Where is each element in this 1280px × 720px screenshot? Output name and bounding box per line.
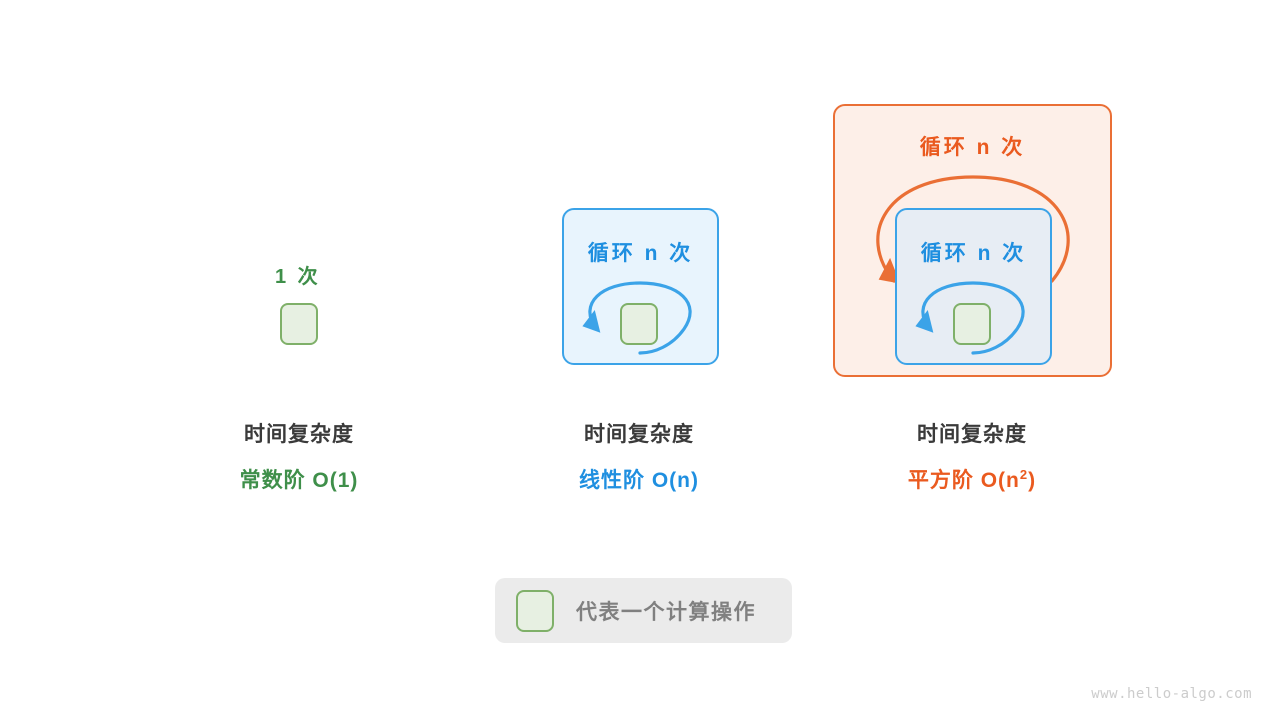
quadratic-diagram: 循环 n 次 循环 n 次: [792, 95, 1152, 385]
caption-title: 时间复杂度: [792, 420, 1152, 450]
linear-diagram: 循环 n 次: [459, 95, 819, 385]
legend-label: 代表一个计算操作: [576, 596, 756, 626]
constant-diagram: 1 次: [119, 95, 479, 385]
loop-label: 循环 n 次: [564, 237, 717, 267]
diagram-canvas: 1 次 时间复杂度 常数阶 O(1) 循环 n 次 时间复杂度 线性阶 O(n): [0, 0, 1280, 720]
constant-count-label: 1 次: [275, 260, 321, 289]
complexity-group-constant: 1 次 时间复杂度 常数阶 O(1): [119, 0, 479, 720]
operation-square: [620, 303, 658, 345]
operation-square: [280, 303, 318, 345]
legend: 代表一个计算操作: [495, 578, 792, 643]
linear-caption: 时间复杂度 线性阶 O(n): [459, 420, 819, 496]
complexity-group-quadratic: 循环 n 次 循环 n 次 时间复杂度 平方阶 O(n2): [792, 0, 1152, 720]
caption-title: 时间复杂度: [459, 420, 819, 450]
caption-value-tail: ): [1028, 469, 1036, 492]
outer-loop-label: 循环 n 次: [835, 131, 1110, 161]
legend-operation-square: [516, 590, 554, 632]
caption-value-main: 平方阶 O(n: [908, 469, 1020, 492]
caption-value-exponent: 2: [1020, 467, 1028, 482]
operation-square: [953, 303, 991, 345]
watermark: www.hello-algo.com: [1091, 686, 1252, 702]
caption-value: 线性阶 O(n): [459, 466, 819, 496]
constant-caption: 时间复杂度 常数阶 O(1): [119, 420, 479, 496]
quadratic-caption: 时间复杂度 平方阶 O(n2): [792, 420, 1152, 496]
caption-value: 平方阶 O(n2): [792, 466, 1152, 496]
caption-title: 时间复杂度: [119, 420, 479, 450]
inner-loop-label: 循环 n 次: [897, 237, 1050, 267]
caption-value: 常数阶 O(1): [119, 466, 479, 496]
